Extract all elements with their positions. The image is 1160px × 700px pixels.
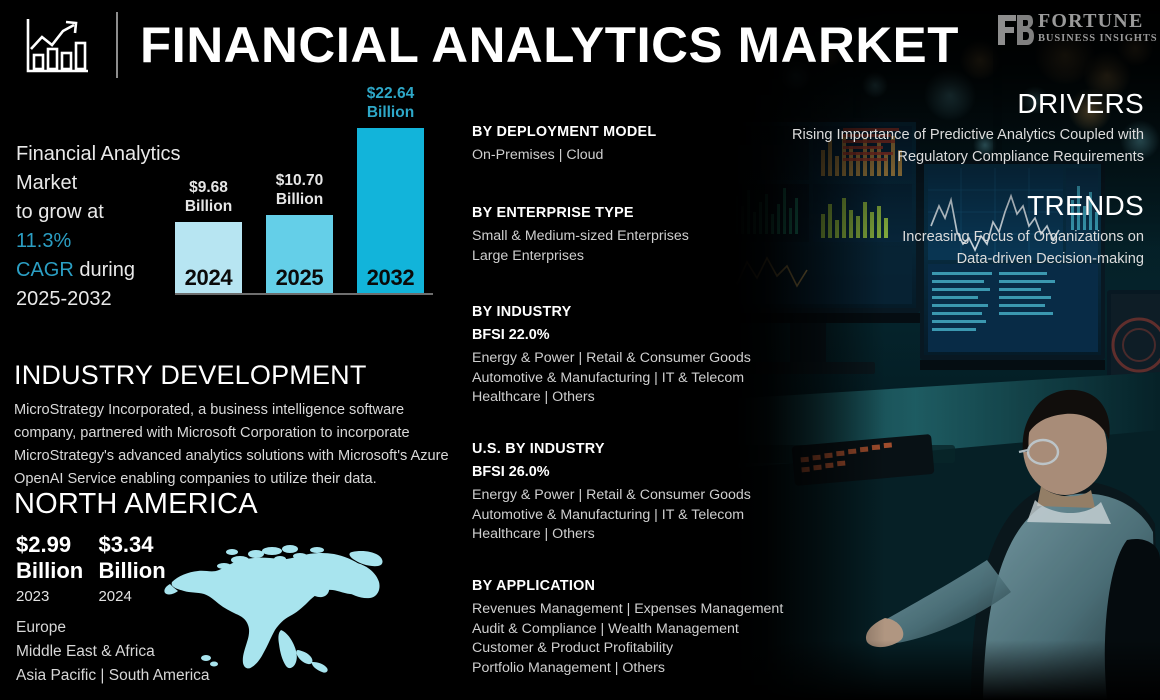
segment-line: Audit & Compliance | Wealth Management [472,620,812,640]
north-america-map-icon [162,540,387,675]
segment-line: Energy & Power | Retail & Consumer Goods [472,486,812,506]
industry-development-body: MicroStrategy Incorporated, a business i… [14,399,454,491]
bar-2025: $10.70Billion 2025 [266,215,333,293]
page-title: FINANCIAL ANALYTICS MARKET [140,12,959,78]
segment-lead-stat: BFSI 22.0% [472,327,812,343]
segment-industry: BY INDUSTRY BFSI 22.0% Energy & Power | … [472,304,812,408]
amount-line-2: Billion [16,558,94,584]
drivers-trends-column: DRIVERS Rising Importance of Predictive … [752,88,1144,270]
trends-block: TRENDS Increasing Focus of Organizations… [752,190,1144,270]
trends-line-2: Data-driven Decision-making [752,248,1144,270]
segment-line: Portfolio Management | Others [472,659,812,679]
market-size-bar-chart: $9.68Billion 2024 $10.70Billion 2025 $22… [165,112,433,302]
bar-year-label: 2024 [175,265,242,291]
figure-year: 2023 [16,588,94,605]
bar-value-label: $9.68Billion [161,178,256,216]
infographic-root: FINANCIAL ANALYTICS MARKET FORTUNE BUSIN… [0,0,1160,700]
segment-heading: U.S. BY INDUSTRY [472,441,812,457]
drivers-line-2: Regulatory Compliance Requirements [752,146,1144,168]
segment-line: Automotive & Manufacturing | IT & Teleco… [472,369,812,389]
segment-heading: BY INDUSTRY [472,304,812,320]
fortune-business-insights-logo: FORTUNE BUSINESS INSIGHTS [994,10,1146,50]
header-divider [116,12,118,78]
drivers-block: DRIVERS Rising Importance of Predictive … [752,88,1144,168]
brand-subtitle: BUSINESS INSIGHTS [1038,33,1157,44]
bar-value-label: $22.64Billion [343,84,438,122]
chart-baseline [175,293,433,295]
segment-line: Customer & Product Profitability [472,639,812,659]
north-america-section: NORTH AMERICA $2.99 Billion 2023 $3.34 B… [14,488,444,521]
industry-development-section: INDUSTRY DEVELOPMENT MicroStrategy Incor… [14,360,454,491]
segment-application: BY APPLICATION Revenues Management | Exp… [472,578,812,678]
bar-2032: $22.64Billion 2032 [357,128,424,293]
drivers-line-1: Rising Importance of Predictive Analytic… [752,124,1144,146]
bar-2024: $9.68Billion 2024 [175,222,242,293]
segment-us-industry: U.S. BY INDUSTRY BFSI 26.0% Energy & Pow… [472,441,812,545]
industry-development-title: INDUSTRY DEVELOPMENT [14,360,454,391]
bar-value-label: $10.70Billion [252,171,347,209]
header: FINANCIAL ANALYTICS MARKET FORTUNE BUSIN… [0,0,1160,92]
figure-2023: $2.99 Billion 2023 [16,532,94,605]
segment-line: Revenues Management | Expenses Managemen… [472,600,812,620]
north-america-figures: $2.99 Billion 2023 $3.34 Billion 2024 [16,532,176,605]
brand-name: FORTUNE [1038,10,1143,33]
segment-line: Healthcare | Others [472,525,812,545]
segment-line: Automotive & Manufacturing | IT & Teleco… [472,506,812,526]
bar-chart-growth-icon [22,15,94,77]
drivers-title: DRIVERS [752,88,1144,120]
cagr-label: CAGR [16,259,74,281]
segment-line: Healthcare | Others [472,388,812,408]
trends-title: TRENDS [752,190,1144,222]
segment-heading: BY APPLICATION [472,578,812,594]
amount-line-1: $2.99 [16,532,94,558]
north-america-title: NORTH AMERICA [14,488,444,521]
segment-line: Energy & Power | Retail & Consumer Goods [472,349,812,369]
segment-lead-stat: BFSI 26.0% [472,464,812,480]
during-label: during [74,259,135,281]
bar-year-label: 2032 [357,265,424,291]
trends-line-1: Increasing Focus of Organizations on [752,226,1144,248]
bar-year-label: 2025 [266,265,333,291]
